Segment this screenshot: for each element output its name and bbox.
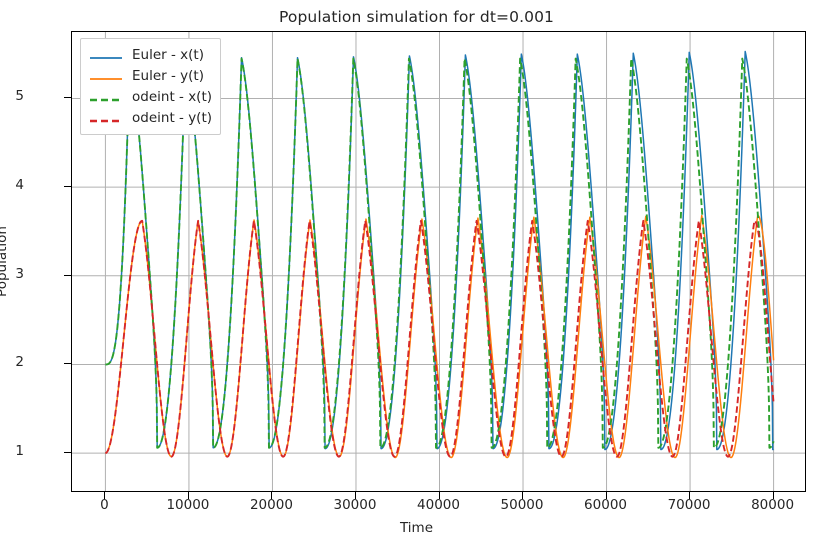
legend-label: Euler - x(t) (132, 47, 204, 63)
y-axis-label: Population (0, 31, 14, 492)
legend: Euler - x(t)Euler - y(t)odeint - x(t)ode… (80, 38, 221, 135)
legend-item[interactable]: odeint - x(t) (89, 86, 212, 107)
legend-swatch-euler-x (89, 49, 123, 61)
y-tick-mark (64, 97, 71, 98)
page-title: Population simulation for dt=0.001 (0, 8, 833, 26)
legend-item[interactable]: odeint - y(t) (89, 107, 212, 128)
x-tick-label: 80000 (713, 497, 833, 513)
y-tick-mark (64, 452, 71, 453)
legend-label: odeint - x(t) (132, 89, 212, 105)
matplotlib-figure: Population simulation for dt=0.001 12345… (0, 0, 833, 547)
legend-swatch-odeint-x (89, 91, 123, 103)
legend-swatch-odeint-y (89, 112, 123, 124)
legend-swatch-euler-y (89, 70, 123, 82)
legend-label: odeint - y(t) (132, 110, 212, 126)
y-tick-mark (64, 363, 71, 364)
legend-item[interactable]: Euler - x(t) (89, 44, 212, 65)
legend-label: Euler - y(t) (132, 68, 204, 84)
x-axis-label: Time (0, 520, 833, 536)
y-tick-mark (64, 275, 71, 276)
y-tick-mark (64, 186, 71, 187)
legend-item[interactable]: Euler - y(t) (89, 65, 212, 86)
